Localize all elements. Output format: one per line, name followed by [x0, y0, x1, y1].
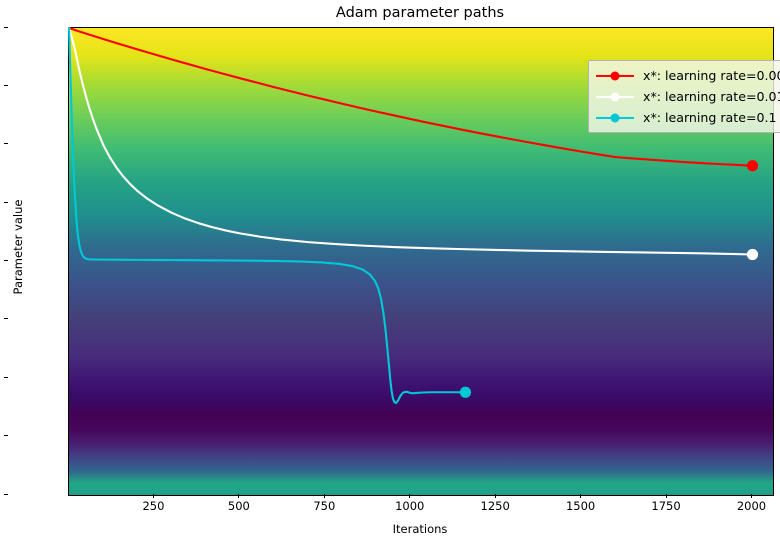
x-tick-label: 2000: [737, 499, 766, 513]
legend-swatch-cyan: [594, 109, 636, 127]
x-tick-label: 500: [228, 499, 250, 513]
x-tick-mark: [409, 494, 410, 498]
y-tick-mark: [4, 377, 8, 378]
chart-title: Adam parameter paths: [68, 4, 772, 22]
legend-swatch-white: [594, 88, 636, 106]
x-tick-mark: [153, 494, 154, 498]
x-tick-label: 1500: [566, 499, 595, 513]
x-tick-mark: [751, 494, 752, 498]
x-tick-label: 1000: [395, 499, 424, 513]
legend-label-lr-001: x*: learning rate=0.01: [643, 89, 780, 104]
legend-label-lr-0001: x*: learning rate=0.001: [643, 68, 780, 83]
x-tick-label: 250: [142, 499, 164, 513]
y-tick-mark: [4, 435, 8, 436]
y-tick-mark: [4, 27, 8, 28]
y-axis-label: Parameter value: [11, 177, 25, 317]
x-tick-mark: [324, 494, 325, 498]
x-tick-mark: [238, 494, 239, 498]
legend-swatch-red: [594, 67, 636, 85]
plot-axes: x*: learning rate=0.001 x*: learning rat…: [68, 27, 774, 496]
y-tick-mark: [4, 202, 8, 203]
series-endpoint-marker-1: [747, 249, 758, 260]
series-endpoint-marker-2: [460, 387, 471, 398]
x-tick-mark: [495, 494, 496, 498]
legend-item-lr-01[interactable]: x*: learning rate=0.1: [594, 107, 780, 128]
x-axis-label: Iterations: [68, 522, 772, 536]
y-tick-mark: [4, 260, 8, 261]
y-tick-mark: [4, 318, 8, 319]
x-tick-label: 1250: [481, 499, 510, 513]
y-tick-mark: [4, 85, 8, 86]
chart-legend[interactable]: x*: learning rate=0.001 x*: learning rat…: [588, 60, 780, 133]
y-tick-mark: [4, 494, 8, 495]
y-tick-mark: [4, 143, 8, 144]
matplotlib-figure: Adam parameter paths x*: learning rate=0…: [0, 0, 780, 547]
x-tick-mark: [666, 494, 667, 498]
x-tick-label: 750: [313, 499, 335, 513]
series-endpoint-marker-0: [747, 160, 758, 171]
legend-label-lr-01: x*: learning rate=0.1: [643, 110, 777, 125]
legend-item-lr-001[interactable]: x*: learning rate=0.01: [594, 86, 780, 107]
legend-item-lr-0001[interactable]: x*: learning rate=0.001: [594, 65, 780, 86]
x-tick-mark: [580, 494, 581, 498]
x-tick-label: 1750: [651, 499, 680, 513]
